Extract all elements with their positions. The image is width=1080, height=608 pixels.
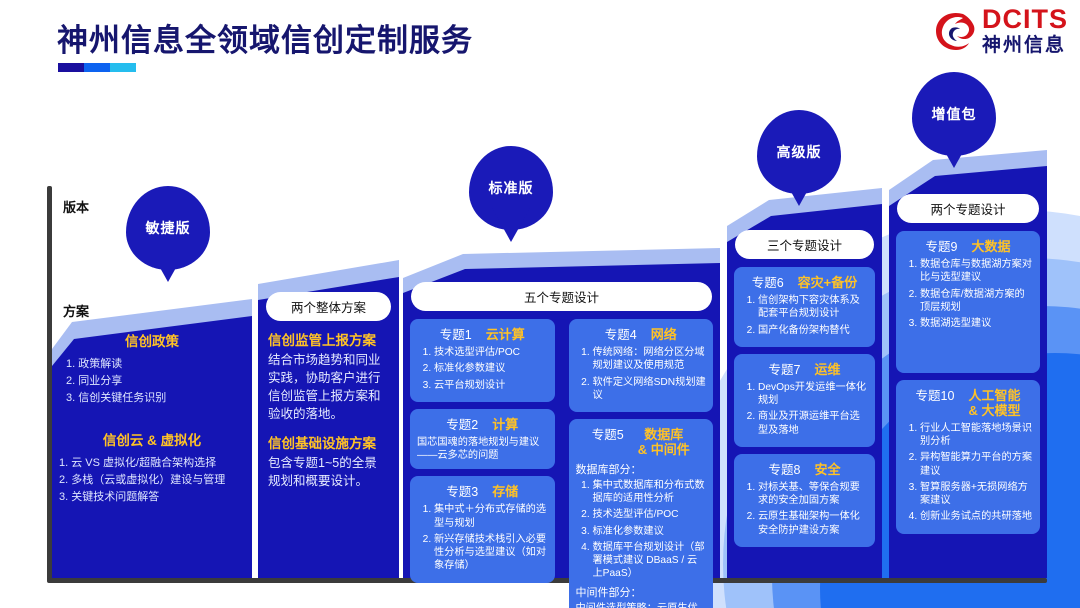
valueadd-pill: 两个专题设计: [897, 194, 1039, 223]
card-subheading-1: 数据库部分：: [576, 461, 707, 477]
card-topic-2: 专题2 计算 国芯国魂的落地规划与建议——云多芯的问题: [410, 409, 555, 470]
card-number: 专题5: [592, 424, 624, 443]
card-number: 专题7: [769, 359, 801, 378]
card-keyword: 安全: [814, 463, 840, 478]
card-number: 专题4: [605, 324, 637, 343]
overall-block-1-body: 结合市场趋势和同业实践，协助客户进行信创监管上报方案和验收的落地。: [268, 351, 389, 424]
card-number: 专题2: [446, 414, 478, 433]
standard-cards-left: 专题1 云计算 技术选型评估/POC 标准化参数建议 云平台规划设计 专题2 计…: [403, 319, 562, 608]
list-item: 云原生基础架构一体化安全防护建设方案: [758, 510, 868, 537]
card-topic-8: 专题8 安全 对标关基、等保合规要求的安全加固方案 云原生基础架构一体化安全防护…: [734, 454, 875, 547]
column-overall-content: 两个整体方案 信创监管上报方案 结合市场趋势和同业实践，协助客户进行信创监管上报…: [258, 292, 399, 498]
card-number: 专题3: [446, 481, 478, 500]
dcits-swirl-icon: [933, 7, 977, 55]
card-keyword: 大数据: [971, 240, 1010, 255]
list-item: 信创架构下容灾体系及配套平台规划设计: [758, 294, 868, 321]
card-tail: 中间件选型策略：云原生优先+传统信创中间件+开源管理: [576, 602, 707, 608]
card-list: 技术选型评估/POC 标准化参数建议 云平台规划设计: [417, 346, 548, 392]
list-item: 商业及开源运维平台选型及落地: [758, 410, 868, 437]
agile-section-1-heading: 信创政策: [52, 330, 252, 350]
axis-label-version: 版本: [63, 197, 89, 216]
pin-label: 敏捷版: [146, 218, 191, 238]
card-keyword: 容灾+备份: [798, 276, 858, 291]
card-list: 对标关基、等保合规要求的安全加固方案 云原生基础架构一体化安全防护建设方案: [741, 481, 868, 537]
list-item: 软件定义网络SDN规划建议: [593, 376, 707, 403]
list-item: 技术选型评估/POC: [434, 346, 548, 359]
list-item: 2. 多栈（云或虚拟化）建设与管理: [59, 472, 246, 489]
list-item: 集中式数据库和分布式数据库的适用性分析: [593, 479, 707, 506]
pin-marker-valueadd: 增值包: [912, 72, 996, 156]
list-item: 新兴存储技术栈引入必要性分析与选型建议（如对象存储）: [434, 533, 548, 573]
list-item: 异构智能算力平台的方案建议: [920, 451, 1033, 478]
column-agile-content: 信创政策 1. 政策解读 2. 同业分享 3. 信创关键任务识别 信创云 & 虚…: [52, 322, 252, 506]
overall-block-1-heading: 信创监管上报方案: [268, 329, 389, 349]
dcits-logo: DCITS 神州信息: [933, 6, 1068, 55]
card-list: 集中式＋分布式存储的选型与规划 新兴存储技术栈引入必要性分析与选型建议（如对象存…: [417, 503, 548, 572]
list-item: 智算服务器+无损网络方案建议: [920, 481, 1033, 508]
accent-segment-1: [58, 63, 84, 72]
page-title: 神州信息全领域信创定制服务: [57, 15, 473, 60]
card-number: 专题1: [440, 324, 472, 343]
accent-segment-2: [84, 63, 110, 72]
list-item: 对标关基、等保合规要求的安全加固方案: [758, 481, 868, 508]
pin-marker-agile: 敏捷版: [126, 186, 210, 270]
advanced-pill: 三个专题设计: [735, 230, 874, 259]
pin-label: 增值包: [932, 104, 977, 124]
card-keyword: 网络: [651, 328, 677, 343]
card-keyword-line1: 数据库: [644, 427, 683, 442]
card-keyword: 数据库 & 中间件: [638, 428, 690, 458]
card-list: 数据仓库与数据湖方案对比与选型建议 数据仓库/数据湖方案的顶层规划 数据湖选型建…: [903, 258, 1033, 330]
list-item: 技术选型评估/POC: [593, 508, 707, 521]
agile-section-2-list: 1. 云 VS 虚拟化/超融合架构选择 2. 多栈（云或虚拟化）建设与管理 3.…: [52, 455, 252, 506]
card-keyword-line2: & 中间件: [638, 442, 690, 457]
overall-block-2-heading: 信创基础设施方案: [268, 432, 389, 452]
column-standard: 五个专题设计 专题1 云计算 技术选型评估/POC 标准化参数建议 云平台规划设…: [403, 248, 720, 578]
list-item: 数据仓库与数据湖方案对比与选型建议: [920, 258, 1033, 285]
card-topic-10: 专题10 人工智能 & 大模型 行业人工智能落地场景识别分析 异构智能算力平台的…: [896, 380, 1040, 534]
logo-wordmark-en: DCITS: [982, 6, 1068, 33]
column-valueadd: 两个专题设计 专题9 大数据 数据仓库与数据湖方案对比与选型建议 数据仓库/数据…: [889, 150, 1047, 578]
card-list: DevOps开发运维一体化规划 商业及开源运维平台选型及落地: [741, 381, 868, 437]
card-topic-1: 专题1 云计算 技术选型评估/POC 标准化参数建议 云平台规划设计: [410, 319, 555, 402]
logo-wordmark-cn: 神州信息: [982, 36, 1068, 55]
title-accent-bar: [58, 63, 136, 72]
card-keyword: 计算: [492, 418, 518, 433]
accent-segment-3: [110, 63, 136, 72]
card-number: 专题10: [916, 385, 955, 404]
list-item: 集中式＋分布式存储的选型与规划: [434, 503, 548, 530]
list-item: 传统网络：网络分区分域规划建议及使用规范: [593, 346, 707, 373]
card-keyword-line2: & 大模型: [968, 403, 1020, 418]
overall-plans-pill: 两个整体方案: [266, 292, 391, 321]
card-topic-9: 专题9 大数据 数据仓库与数据湖方案对比与选型建议 数据仓库/数据湖方案的顶层规…: [896, 231, 1040, 373]
card-number: 专题9: [926, 236, 958, 255]
overall-block-2-body: 包含专题1~5的全景规划和概要设计。: [268, 454, 389, 490]
card-keyword: 运维: [814, 363, 840, 378]
card-number: 专题8: [769, 459, 801, 478]
list-item: 国产化备份架构替代: [758, 324, 868, 337]
card-subheading-2: 中间件部分：: [576, 584, 707, 600]
card-list: 行业人工智能落地场景识别分析 异构智能算力平台的方案建议 智算服务器+无损网络方…: [903, 422, 1033, 524]
agile-section-1-list: 1. 政策解读 2. 同业分享 3. 信创关键任务识别: [52, 356, 252, 407]
card-list: 传统网络：网络分区分域规划建议及使用规范 软件定义网络SDN规划建议: [576, 346, 707, 402]
standard-cards-right: 专题4 网络 传统网络：网络分区分域规划建议及使用规范 软件定义网络SDN规划建…: [562, 319, 721, 608]
standard-pill: 五个专题设计: [411, 282, 712, 311]
card-keyword: 存储: [492, 485, 518, 500]
card-list: 集中式数据库和分布式数据库的适用性分析 技术选型评估/POC 标准化参数建议 数…: [576, 479, 707, 581]
list-item: 云平台规划设计: [434, 379, 548, 392]
agile-section-2-heading: 信创云 & 虚拟化: [52, 429, 252, 449]
card-topic-3: 专题3 存储 集中式＋分布式存储的选型与规划 新兴存储技术栈引入必要性分析与选型…: [410, 476, 555, 582]
pin-marker-standard: 标准版: [469, 146, 553, 230]
pin-label: 高级版: [777, 142, 822, 162]
list-item: 标准化参数建议: [593, 525, 707, 538]
card-keyword: 云计算: [486, 328, 525, 343]
list-item: 1. 政策解读: [66, 356, 246, 373]
list-item: 3. 信创关键任务识别: [66, 390, 246, 407]
column-valueadd-content: 两个专题设计 专题9 大数据 数据仓库与数据湖方案对比与选型建议 数据仓库/数据…: [889, 194, 1047, 541]
column-advanced-content: 三个专题设计 专题6 容灾+备份 信创架构下容灾体系及配套平台规划设计 国产化备…: [727, 230, 882, 554]
list-item: DevOps开发运维一体化规划: [758, 381, 868, 408]
pin-label: 标准版: [489, 178, 534, 198]
column-overall-plans: 两个整体方案 信创监管上报方案 结合市场趋势和同业实践，协助客户进行信创监管上报…: [258, 260, 399, 578]
pin-marker-advanced: 高级版: [757, 110, 841, 194]
list-item: 3. 关键技术问题解答: [59, 489, 246, 506]
list-item: 行业人工智能落地场景识别分析: [920, 422, 1033, 449]
list-item: 数据仓库/数据湖方案的顶层规划: [920, 288, 1033, 315]
card-list: 信创架构下容灾体系及配套平台规划设计 国产化备份架构替代: [741, 294, 868, 337]
card-keyword-line1: 人工智能: [968, 388, 1020, 403]
list-item: 创新业务试点的共研落地: [920, 510, 1033, 523]
list-item: 数据库平台规划设计（部署模式建议 DBaaS / 云上PaaS）: [593, 541, 707, 581]
list-item: 1. 云 VS 虚拟化/超融合架构选择: [59, 455, 246, 472]
list-item: 标准化参数建议: [434, 362, 548, 375]
list-item: 2. 同业分享: [66, 373, 246, 390]
column-standard-content: 五个专题设计 专题1 云计算 技术选型评估/POC 标准化参数建议 云平台规划设…: [403, 282, 720, 608]
list-item: 数据湖选型建议: [920, 317, 1033, 330]
card-topic-5: 专题5 数据库 & 中间件 数据库部分： 集中式数据库和分布式数据库的适用性分析…: [569, 419, 714, 608]
card-number: 专题6: [752, 272, 784, 291]
card-topic-6: 专题6 容灾+备份 信创架构下容灾体系及配套平台规划设计 国产化备份架构替代: [734, 267, 875, 347]
card-keyword: 人工智能 & 大模型: [968, 389, 1020, 419]
slide-canvas: 神州信息全领域信创定制服务 DCITS 神州信息 版本 方案 信创政策 1. 政…: [0, 0, 1080, 608]
card-topic-7: 专题7 运维 DevOps开发运维一体化规划 商业及开源运维平台选型及落地: [734, 354, 875, 447]
card-body: 国芯国魂的落地规划与建议——云多芯的问题: [417, 436, 548, 463]
card-topic-4: 专题4 网络 传统网络：网络分区分域规划建议及使用规范 软件定义网络SDN规划建…: [569, 319, 714, 412]
column-advanced: 三个专题设计 专题6 容灾+备份 信创架构下容灾体系及配套平台规划设计 国产化备…: [727, 188, 882, 578]
